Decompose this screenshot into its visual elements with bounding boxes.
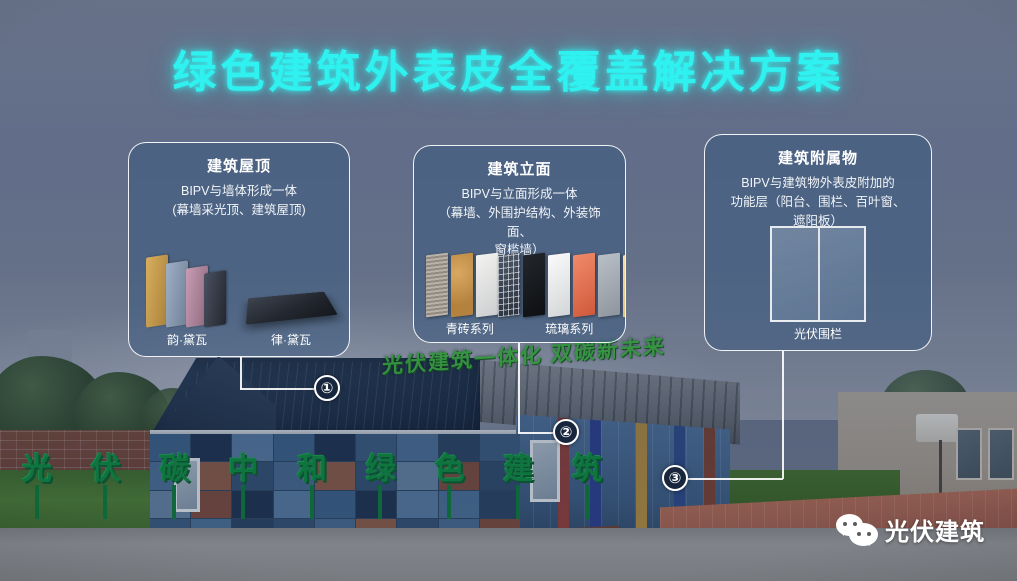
sample-products bbox=[129, 252, 349, 326]
leader-line-1-vertical bbox=[240, 357, 242, 389]
card-description-line2: 功能层（阳台、围栏、百叶窗、 bbox=[717, 193, 919, 212]
page-title: 绿色建筑外表皮全覆盖解决方案 bbox=[0, 36, 1017, 100]
marker-1[interactable]: ① bbox=[314, 375, 340, 401]
flat-tile-sample bbox=[246, 292, 338, 325]
watermark-text: 光伏建筑 bbox=[885, 512, 985, 547]
panel-sample bbox=[476, 253, 498, 318]
wechat-icon bbox=[836, 514, 878, 546]
leader-line-3-horizontal bbox=[688, 478, 783, 480]
window bbox=[988, 428, 1014, 480]
panel-sample bbox=[623, 253, 626, 318]
watermark: 光伏建筑 bbox=[836, 512, 985, 547]
pv-railing-sample bbox=[770, 226, 866, 322]
card-description-line1: BIPV与建筑物外表皮附加的 bbox=[717, 174, 919, 193]
sample-labels: 韵·黛瓦 律·黛瓦 bbox=[129, 331, 349, 348]
lawn-character: 伏 bbox=[91, 455, 121, 485]
marker-3[interactable]: ③ bbox=[662, 465, 688, 491]
card-title: 建筑屋顶 bbox=[141, 155, 337, 176]
callout-card-roof[interactable]: 建筑屋顶 BIPV与墙体形成一体 (幕墙采光顶、建筑屋顶) 韵·黛瓦 律·黛瓦 bbox=[128, 142, 350, 357]
leader-line-2-horizontal bbox=[518, 432, 553, 434]
panel-sample bbox=[573, 253, 595, 318]
lawn-character: 色 bbox=[435, 455, 465, 485]
leader-line-1-horizontal bbox=[240, 388, 314, 390]
panel-sample bbox=[598, 253, 620, 318]
panel-sample bbox=[548, 253, 570, 318]
sample-label: 琉璃系列 bbox=[545, 320, 593, 337]
window bbox=[956, 428, 982, 480]
lawn-character-signs: 光伏碳中和绿色建筑 bbox=[22, 455, 602, 525]
solar-panel-sample bbox=[498, 253, 520, 318]
sample-label: 光伏围栏 bbox=[794, 325, 842, 342]
panel-sample bbox=[451, 253, 473, 318]
sample-labels: 光伏围栏 bbox=[705, 325, 931, 342]
card-title: 建筑立面 bbox=[426, 158, 613, 179]
brick-series-samples bbox=[426, 254, 498, 316]
sample-products bbox=[705, 226, 931, 322]
lawn-character: 和 bbox=[297, 455, 327, 485]
tile-stack-sample bbox=[146, 252, 238, 326]
leader-line-3-vertical bbox=[782, 351, 784, 479]
panel-sample bbox=[426, 253, 448, 318]
lawn-character: 中 bbox=[228, 455, 258, 485]
poster-canvas: 光伏建筑一体化 双碳新未来 光伏碳中和绿色建筑 绿色建筑外表皮全覆盖解决方案 ①… bbox=[0, 0, 1017, 581]
lawn-character: 筑 bbox=[572, 455, 602, 485]
leader-line-2-vertical bbox=[518, 343, 520, 433]
marker-2[interactable]: ② bbox=[553, 419, 579, 445]
callout-card-attachments[interactable]: 建筑附属物 BIPV与建筑物外表皮附加的 功能层（阳台、围栏、百叶窗、 遮阳板）… bbox=[704, 134, 932, 351]
card-description-line1: BIPV与墙体形成一体 bbox=[141, 182, 337, 201]
lawn-character: 光 bbox=[22, 455, 52, 485]
sample-labels: 青砖系列 琉璃系列 bbox=[414, 320, 625, 337]
callout-card-facade[interactable]: 建筑立面 BIPV与立面形成一体 （幕墙、外围护结构、外装饰面、 窗槛墙） 青砖… bbox=[413, 145, 626, 343]
card-description-line1: BIPV与立面形成一体 bbox=[426, 185, 613, 204]
glaze-series-samples bbox=[498, 254, 626, 316]
lawn-character: 建 bbox=[503, 455, 533, 485]
sample-products bbox=[414, 254, 625, 316]
sample-label: 青砖系列 bbox=[446, 320, 494, 337]
air-conditioner-unit bbox=[916, 414, 958, 442]
card-title: 建筑附属物 bbox=[717, 147, 919, 168]
card-description-line2: (幕墙采光顶、建筑屋顶) bbox=[141, 201, 337, 220]
lawn-character: 绿 bbox=[366, 455, 396, 485]
sample-label: 律·黛瓦 bbox=[271, 331, 311, 348]
panel-sample bbox=[523, 253, 545, 318]
lawn-character: 碳 bbox=[160, 455, 190, 485]
card-description-line2: （幕墙、外围护结构、外装饰面、 bbox=[426, 204, 613, 242]
sample-label: 韵·黛瓦 bbox=[167, 331, 207, 348]
